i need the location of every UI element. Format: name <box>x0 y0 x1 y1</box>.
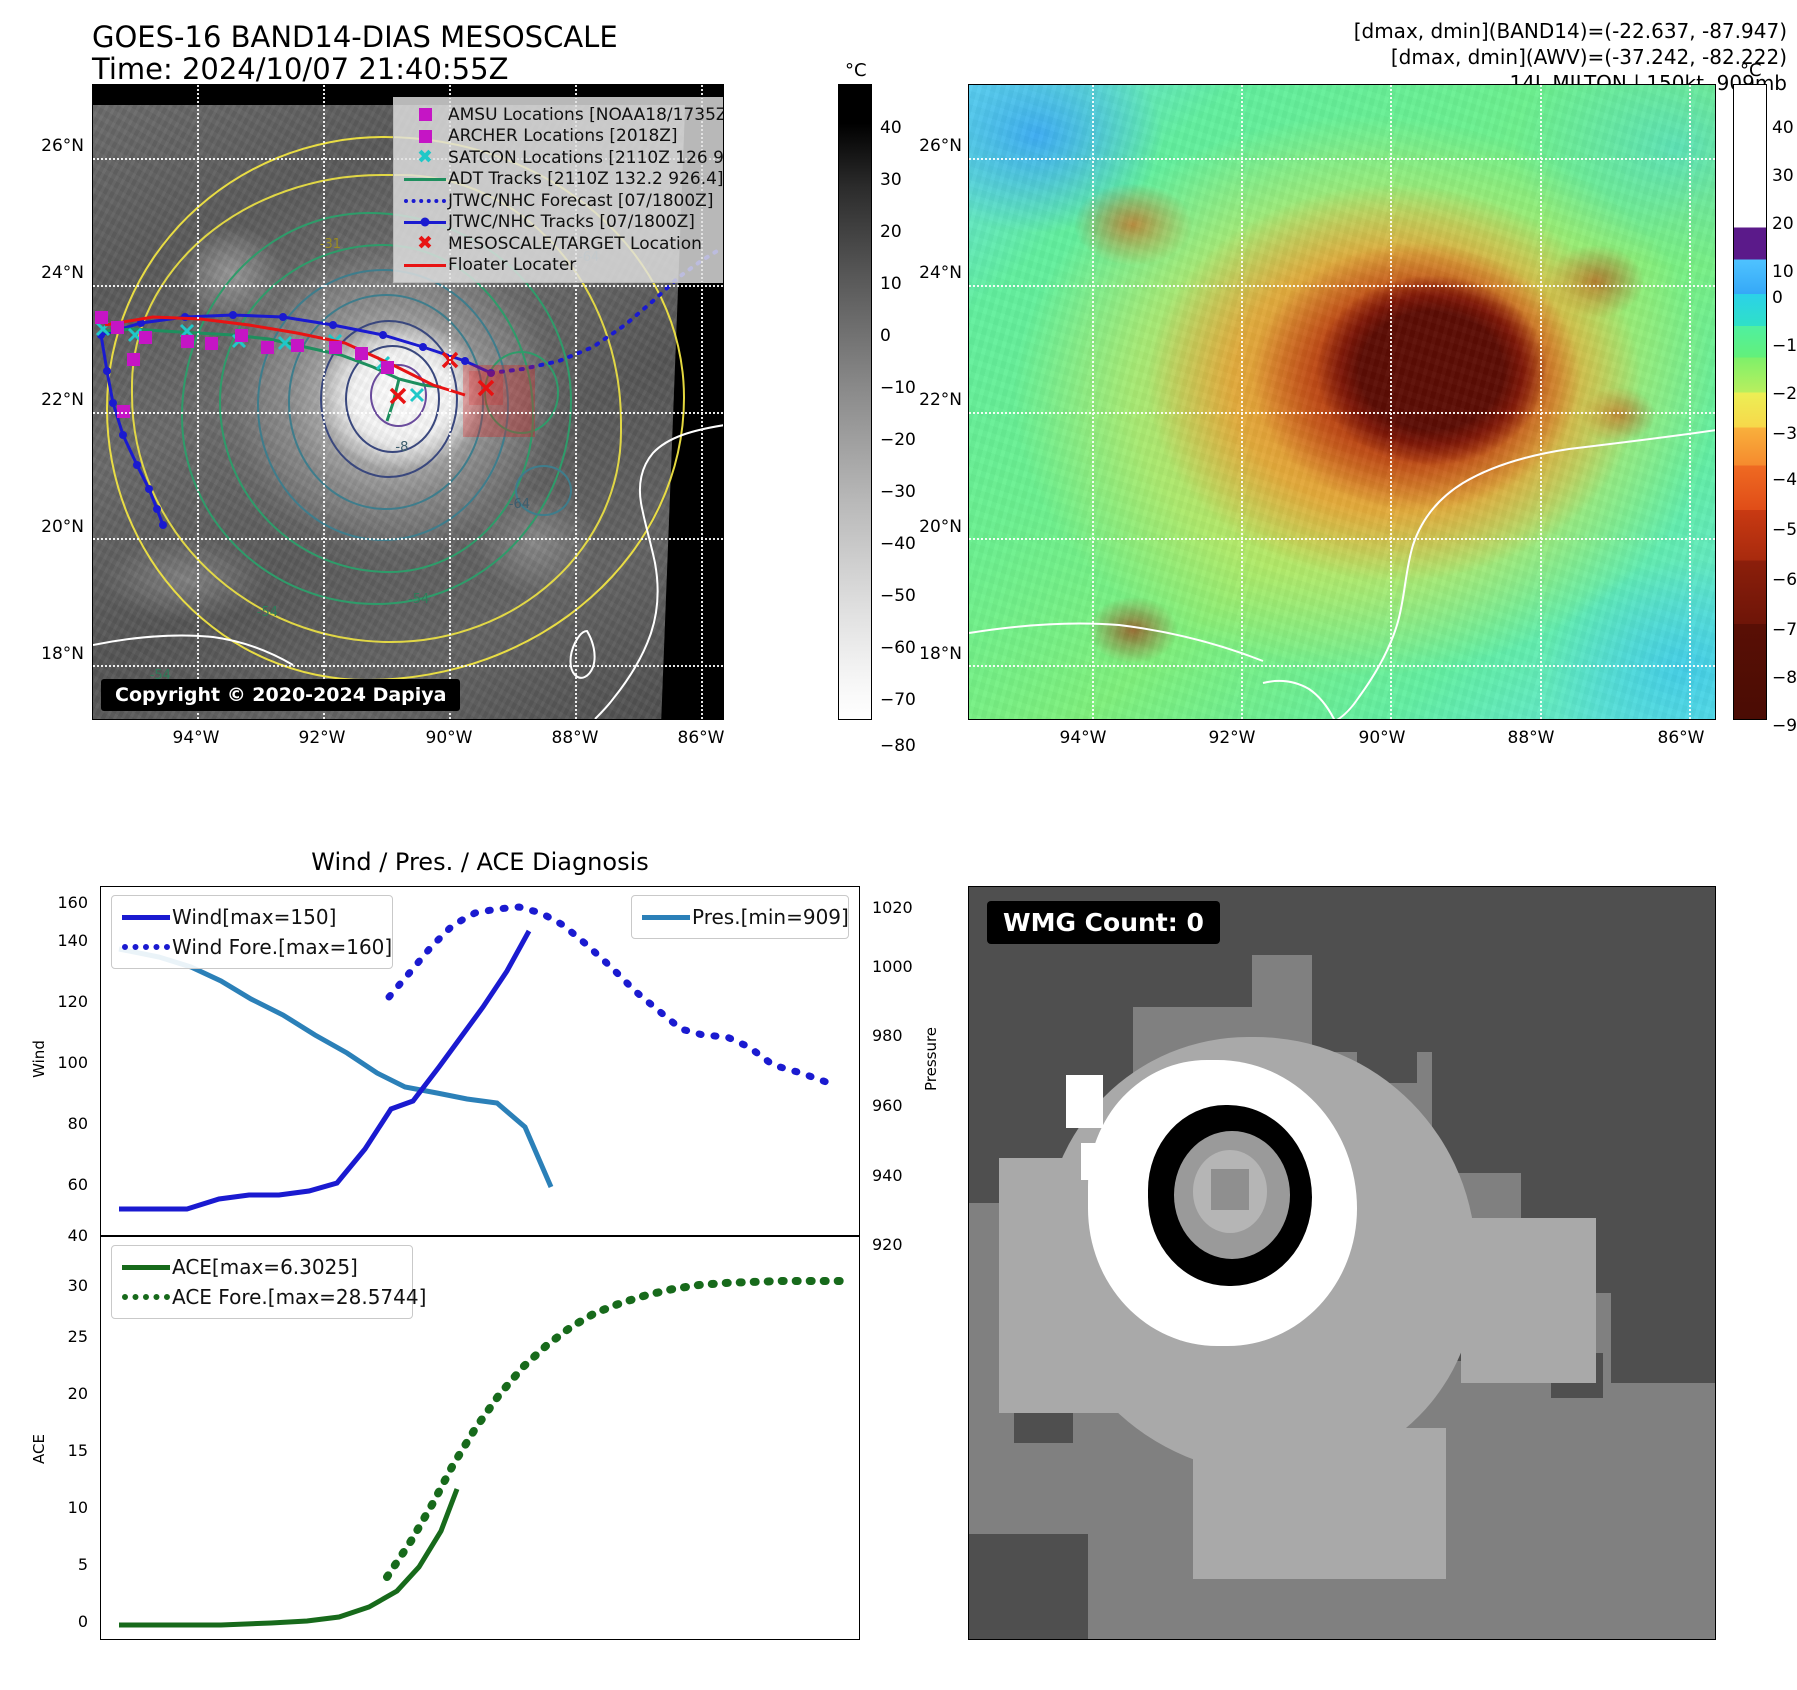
wind-ytick: 140 <box>10 931 88 950</box>
legend-item-amsu: AMSU Locations [NOAA18/1735Z 144 910] <box>402 104 724 126</box>
pressure-ytick: 960 <box>872 1096 903 1115</box>
ir-xtick: 90°W <box>409 728 489 748</box>
ir-cb-tick: 40 <box>880 118 902 138</box>
legend-label: Pres.[min=909] <box>692 905 849 929</box>
pressure-ytick: 1000 <box>872 957 913 976</box>
legend-item-ace-forecast: ACE Fore.[max=28.5744] <box>120 1282 400 1312</box>
ace-ytick: 15 <box>10 1441 88 1460</box>
ir-xtick: 92°W <box>282 728 362 748</box>
awv-image <box>969 85 1715 719</box>
ace-ytick: 0 <box>10 1612 88 1631</box>
ir-colorbar-unit: °C <box>845 60 867 81</box>
ir-xtick: 94°W <box>156 728 236 748</box>
awv-ytick: 20°N <box>890 517 962 537</box>
dashboard-root: GOES-16 BAND14-DIAS MESOSCALE Time: 2024… <box>0 0 1797 1690</box>
legend-label: MESOSCALE/TARGET Location <box>448 234 702 254</box>
ace-ytick: 25 <box>10 1327 88 1346</box>
pressure-axis-label: Pressure <box>922 1004 940 1114</box>
ir-colorbar <box>838 84 872 720</box>
info-band14-range: [dmax, dmin](BAND14)=(-22.637, -87.947) <box>1087 18 1787 45</box>
awv-xtick: 92°W <box>1192 728 1272 748</box>
line-blue-icon <box>120 915 172 920</box>
wind-ytick: 120 <box>10 992 88 1011</box>
legend-label: Wind Fore.[max=160] <box>172 935 392 959</box>
awv-xtick: 86°W <box>1641 728 1721 748</box>
wmg-panel[interactable]: WMG Count: 0 <box>968 886 1716 1640</box>
legend-item-satcon: ✖ SATCON Locations [2110Z 126 946] <box>402 147 724 169</box>
legend-item-wind-forecast: Wind Fore.[max=160] <box>120 932 380 962</box>
ace-ytick: 10 <box>10 1498 88 1517</box>
awv-ytick: 26°N <box>890 136 962 156</box>
awv-colorbar <box>1733 84 1767 720</box>
ir-cb-tick: −40 <box>880 534 916 554</box>
legend-item-wind: Wind[max=150] <box>120 902 380 932</box>
line-red-icon <box>402 264 448 268</box>
line-dot-blue-icon <box>402 221 448 225</box>
pressure-ytick: 1020 <box>872 898 913 917</box>
ir-xtick: 86°W <box>661 728 741 748</box>
legend-item-mesoscale: ✖ MESOSCALE/TARGET Location <box>402 233 724 255</box>
awv-cb-tick: 30 <box>1772 166 1794 186</box>
legend-item-archer: ARCHER Locations [2018Z] <box>402 126 724 148</box>
legend-item-ace: ACE[max=6.3025] <box>120 1252 400 1282</box>
awv-cb-tick: 10 <box>1772 262 1794 282</box>
ir-ytick: 26°N <box>12 136 84 156</box>
pressure-ytick: 940 <box>872 1166 903 1185</box>
legend-item-pressure: Pres.[min=909] <box>640 902 836 932</box>
legend-label: ADT Tracks [2110Z 132.2 926.4] <box>448 169 724 189</box>
awv-cb-tick: −90 <box>1772 716 1797 736</box>
awv-satellite-panel[interactable] <box>968 84 1716 720</box>
awv-ytick: 24°N <box>890 263 962 283</box>
legend-item-forecast: JTWC/NHC Forecast [07/1800Z] <box>402 190 724 212</box>
ace-ytick: 5 <box>10 1555 88 1574</box>
page-timestamp: Time: 2024/10/07 21:40:55Z <box>92 50 508 88</box>
ace-chart[interactable]: ACE[max=6.3025] ACE Fore.[max=28.5744] <box>100 1236 860 1640</box>
awv-cb-tick: −60 <box>1772 570 1797 590</box>
wind-pressure-chart[interactable]: Wind[max=150] Wind Fore.[max=160] Pres.[… <box>100 886 860 1236</box>
info-awv-range: [dmax, dmin](AWV)=(-37.242, -82.222) <box>1087 44 1787 71</box>
legend-label: Wind[max=150] <box>172 905 336 929</box>
wind-ytick: 160 <box>10 893 88 912</box>
legend-label: SATCON Locations [2110Z 126 946] <box>448 148 724 168</box>
x-red-icon: ✖ <box>402 234 448 253</box>
dotted-blue-icon <box>120 944 172 950</box>
ir-ytick: 20°N <box>12 517 84 537</box>
awv-cb-tick: 0 <box>1772 288 1783 308</box>
ir-legend: AMSU Locations [NOAA18/1735Z 144 910] AR… <box>393 97 724 283</box>
legend-label: ACE[max=6.3025] <box>172 1255 358 1279</box>
pressure-legend: Pres.[min=909] <box>631 895 849 939</box>
square-magenta-icon <box>402 108 448 121</box>
awv-coastline-overlay <box>969 85 1716 720</box>
legend-item-tracks: JTWC/NHC Tracks [07/1800Z] <box>402 212 724 234</box>
awv-ytick: 22°N <box>890 390 962 410</box>
x-cyan-icon: ✖ <box>402 148 448 167</box>
awv-cb-tick: 20 <box>1772 214 1794 234</box>
awv-xtick: 90°W <box>1342 728 1422 748</box>
ir-cb-tick: −20 <box>880 430 916 450</box>
ir-ytick: 22°N <box>12 390 84 410</box>
legend-label: JTWC/NHC Forecast [07/1800Z] <box>448 191 713 211</box>
awv-xtick: 94°W <box>1043 728 1123 748</box>
pressure-ytick: 980 <box>872 1026 903 1045</box>
awv-colorbar-unit: °C <box>1740 60 1762 81</box>
wind-ytick: 60 <box>10 1175 88 1194</box>
ir-cb-tick: 20 <box>880 222 902 242</box>
awv-cb-tick: −20 <box>1772 384 1797 404</box>
awv-cb-tick: −30 <box>1772 424 1797 444</box>
line-green-icon <box>120 1265 172 1270</box>
wind-ytick: 30 <box>10 1276 88 1295</box>
pressure-ytick: 920 <box>872 1235 903 1254</box>
awv-cb-tick: −70 <box>1772 620 1797 640</box>
wind-ytick: 80 <box>10 1114 88 1133</box>
legend-label: Floater Locater <box>448 255 576 275</box>
legend-item-adt: ADT Tracks [2110Z 132.2 926.4] <box>402 169 724 191</box>
legend-label: JTWC/NHC Tracks [07/1800Z] <box>448 212 695 232</box>
ir-cb-tick: 0 <box>880 326 891 346</box>
dotted-green-icon <box>120 1294 172 1300</box>
square-magenta-icon <box>402 130 448 143</box>
awv-xtick: 88°W <box>1491 728 1571 748</box>
wmg-image <box>969 887 1715 1639</box>
ir-ytick: 24°N <box>12 263 84 283</box>
legend-label: AMSU Locations [NOAA18/1735Z 144 910] <box>448 105 724 125</box>
wind-legend: Wind[max=150] Wind Fore.[max=160] <box>111 895 393 969</box>
awv-ytick: 18°N <box>890 644 962 664</box>
wind-ytick: 100 <box>10 1053 88 1072</box>
line-green-icon <box>402 178 448 182</box>
awv-cb-tick: −10 <box>1772 336 1797 356</box>
awv-cb-tick: 40 <box>1772 118 1794 138</box>
ir-cb-tick: −30 <box>880 482 916 502</box>
wind-ytick: 40 <box>10 1226 88 1245</box>
wmg-count-badge: WMG Count: 0 <box>987 901 1220 944</box>
ir-satellite-panel[interactable]: -31 -64 -54 -54 -54 -64 -8 <box>92 84 724 720</box>
ir-xtick: 88°W <box>535 728 615 748</box>
awv-cb-tick: −40 <box>1772 470 1797 490</box>
dotted-blue-icon <box>402 199 448 203</box>
diagnosis-chart-title: Wind / Pres. / ACE Diagnosis <box>100 848 860 876</box>
ir-cb-tick: −70 <box>880 690 916 710</box>
ir-cb-tick: 30 <box>880 170 902 190</box>
line-steelblue-icon <box>640 915 692 920</box>
awv-cb-tick: −80 <box>1772 668 1797 688</box>
ir-cb-tick: −80 <box>880 736 916 756</box>
legend-item-floater: Floater Locater <box>402 255 724 277</box>
ir-cb-tick: −50 <box>880 586 916 606</box>
ace-ytick: 20 <box>10 1384 88 1403</box>
ir-ytick: 18°N <box>12 644 84 664</box>
copyright-badge: Copyright © 2020-2024 Dapiya <box>101 679 460 711</box>
legend-label: ACE Fore.[max=28.5744] <box>172 1285 426 1309</box>
ace-legend: ACE[max=6.3025] ACE Fore.[max=28.5744] <box>111 1245 413 1319</box>
legend-label: ARCHER Locations [2018Z] <box>448 126 678 146</box>
awv-cb-tick: −50 <box>1772 520 1797 540</box>
